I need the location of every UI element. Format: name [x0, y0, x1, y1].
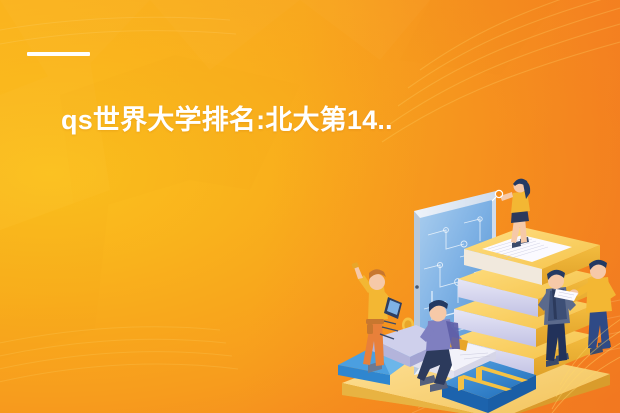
- title-underline-rule: [27, 52, 90, 56]
- camera-dot: [415, 285, 419, 289]
- page-title: qs世界大学排名:北大第14..: [61, 104, 393, 138]
- banner-image: qs世界大学排名:北大第14..: [0, 0, 620, 413]
- isometric-education-illustration: [324, 169, 620, 413]
